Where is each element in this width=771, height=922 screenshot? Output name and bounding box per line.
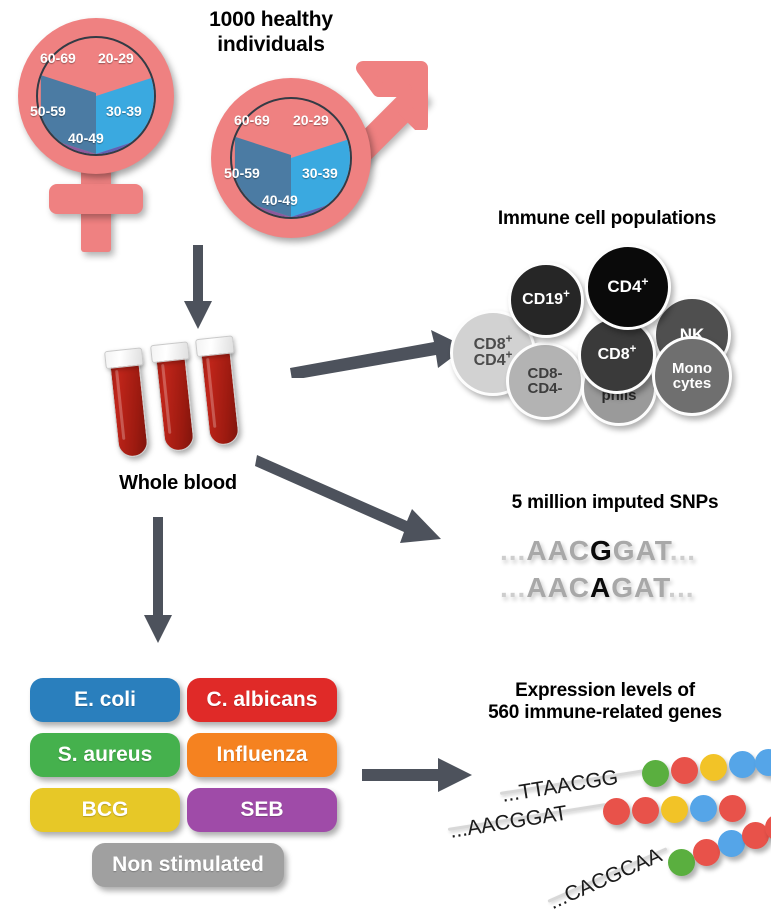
pie-label-60-69: 60-69 [40, 50, 76, 66]
pie-label-60-69: 60-69 [234, 112, 270, 128]
pie-label-40-49: 40-49 [68, 130, 104, 146]
immune-cell-cd8n-cd4n: CD8- CD4- [506, 342, 584, 420]
cell-label: CD8+ [598, 347, 637, 363]
gene-bead [642, 760, 669, 787]
strand-sequence: ...AACGGAT [448, 802, 569, 844]
pie-label-20-29: 20-29 [293, 112, 329, 128]
immune-cell-cd4: CD4+ [585, 244, 671, 330]
blood-tube [200, 344, 240, 447]
cell-label-line1: CD8- [527, 366, 562, 381]
arrow-to-snps [255, 447, 445, 552]
snp-prefix: ... [500, 572, 526, 603]
stimulus-non-stimulated[interactable]: Non stimulated [92, 843, 284, 887]
gene-bead [755, 749, 771, 776]
blood-tube [109, 356, 149, 459]
snp-suffix: ... [668, 572, 694, 603]
gene-strands: ...TTAACGG ...AACGGAT ...CACGCAA [440, 740, 771, 920]
gene-bead [719, 795, 746, 822]
immune-cell-cluster: CD8+ CD4+ CD19+ CD4+ NK CD8+ [450, 240, 760, 410]
cell-label: CD19+ [522, 292, 570, 308]
immune-title: Immune cell populations [452, 208, 762, 230]
snp-right: GAT [611, 572, 668, 603]
snp-sequence-row: ...AACGGAT... [500, 535, 696, 567]
stimulus-s-aureus[interactable]: S. aureus [30, 733, 180, 777]
immune-cell-monocytes: Mono cytes [652, 336, 732, 416]
stimulus-c-albicans[interactable]: C. albicans [187, 678, 337, 722]
immune-cell-cd19: CD19+ [508, 262, 584, 338]
gene-bead [729, 751, 756, 778]
cohort-title-line1: 1000 healthy [176, 8, 366, 33]
whole-blood-tubes [108, 335, 268, 465]
whole-blood-label: Whole blood [78, 472, 278, 496]
pie-label-30-39: 30-39 [106, 103, 142, 119]
snp-right: GAT [613, 535, 670, 566]
snp-prefix: ... [500, 535, 526, 566]
snp-left: AAC [526, 572, 590, 603]
snp-variant: A [590, 572, 611, 603]
female-stem-horizontal [49, 184, 143, 214]
stimulus-bcg[interactable]: BCG [30, 788, 180, 832]
pie-label-30-39: 30-39 [302, 165, 338, 181]
pie-label-50-59: 50-59 [224, 165, 260, 181]
arrow-to-immune-cells [288, 328, 468, 378]
gene-bead [603, 798, 630, 825]
pie-label-20-29: 20-29 [98, 50, 134, 66]
gene-bead [668, 849, 695, 876]
figure-canvas: 1000 healthy individuals 20-29 30-39 40-… [0, 0, 771, 922]
cell-label-line1: Mono [672, 361, 712, 376]
gene-bead [661, 796, 688, 823]
blood-tube [155, 350, 195, 453]
expression-title-line2: 560 immune-related genes [442, 702, 768, 724]
cell-label: CD4+ [607, 278, 648, 295]
cell-label-line2: CD4- [527, 381, 562, 396]
snp-title: 5 million imputed SNPs [470, 492, 760, 514]
gene-bead [671, 757, 698, 784]
stimulus-seb[interactable]: SEB [187, 788, 337, 832]
strand-sequence: ...CACGCAA [545, 844, 666, 915]
snp-variant: G [590, 535, 613, 566]
pie-label-40-49: 40-49 [262, 192, 298, 208]
stimulus-e-coli[interactable]: E. coli [30, 678, 180, 722]
cell-label-line2: CD4+ [474, 353, 513, 369]
expression-title-line1: Expression levels of [442, 680, 768, 702]
pie-label-50-59: 50-59 [30, 103, 66, 119]
female-symbol: 20-29 30-39 40-49 50-59 60-69 [10, 12, 190, 252]
stimulus-influenza[interactable]: Influenza [187, 733, 337, 777]
gene-bead [718, 830, 745, 857]
snp-suffix: ... [670, 535, 696, 566]
gene-bead [693, 839, 720, 866]
gene-bead [632, 797, 659, 824]
snp-left: AAC [526, 535, 590, 566]
snp-sequence-row: ...AACAGAT... [500, 572, 695, 604]
expression-title: Expression levels of 560 immune-related … [442, 680, 768, 725]
gene-bead [690, 795, 717, 822]
male-symbol: 20-29 30-39 40-49 50-59 60-69 [205, 40, 435, 245]
cell-label-line2: cytes [672, 376, 712, 391]
gene-bead [700, 754, 727, 781]
stimuli-panel: E. coli C. albicans S. aureus Influenza … [30, 678, 340, 893]
arrow-down-to-blood [180, 245, 216, 331]
arrow-down-to-stimuli [140, 517, 176, 645]
